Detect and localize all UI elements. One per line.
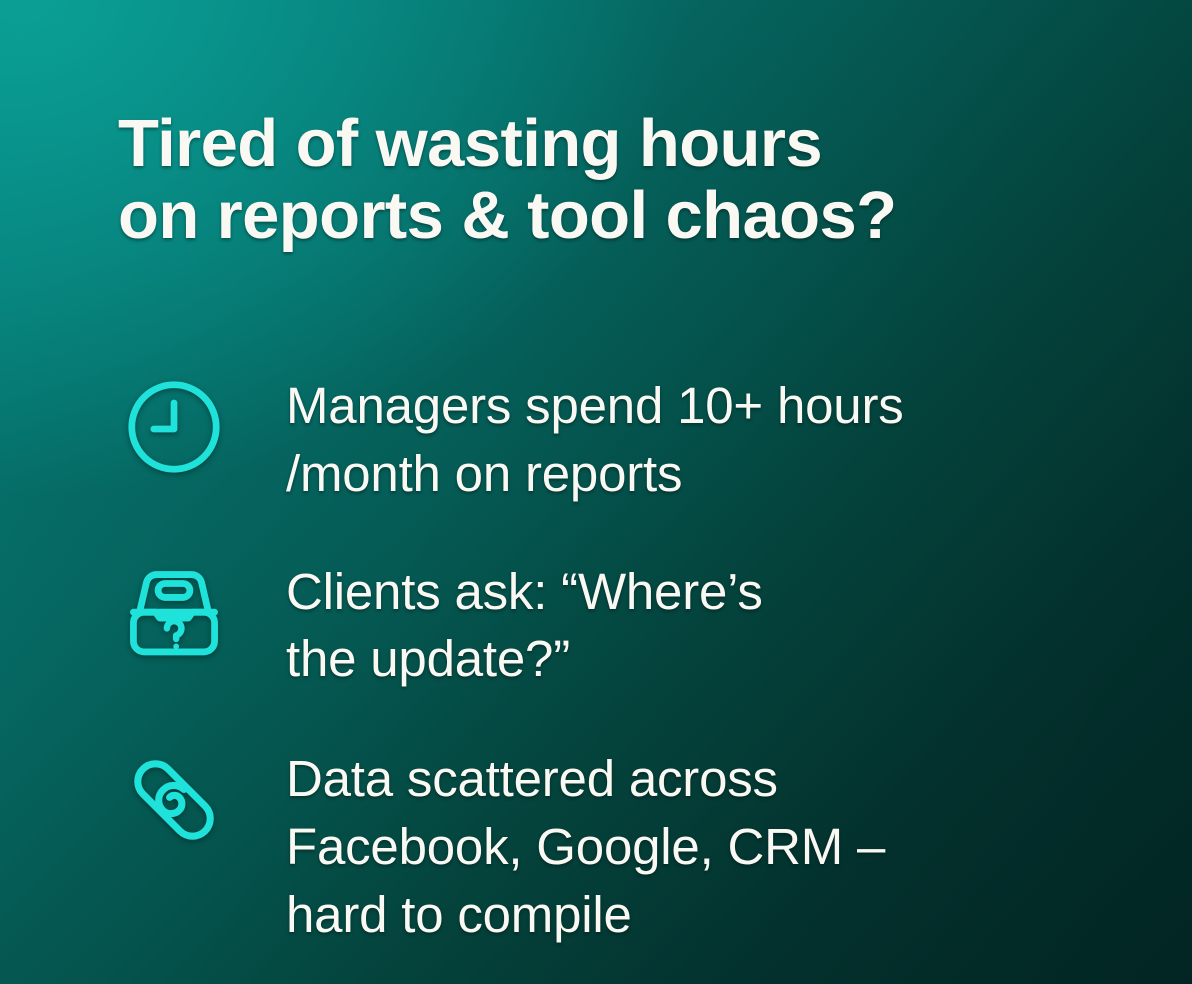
page-title-line-1: Tired of wasting hours — [118, 108, 1128, 180]
list-item: Managers spend 10+ hours /month on repor… — [118, 368, 1138, 508]
list-item-line-3: hard to compile — [286, 881, 1138, 949]
list-item-line-1: Data scattered across — [286, 745, 1138, 813]
list-item-line-2: the update?” — [286, 625, 1138, 693]
list-item-text: Clients ask: “Where’s the update?” — [286, 554, 1138, 694]
list-item-line-1: Clients ask: “Where’s — [286, 558, 1138, 626]
list-item: Clients ask: “Where’s the update?” — [118, 554, 1138, 694]
promo-card: Tired of wasting hours on reports & tool… — [0, 0, 1192, 984]
paperclip-link-icon — [118, 747, 230, 859]
list-item-text: Data scattered across Facebook, Google, … — [286, 741, 1138, 948]
list-item-line-1: Managers spend 10+ hours — [286, 372, 1138, 440]
page-title: Tired of wasting hours on reports & tool… — [118, 108, 1128, 253]
page-title-line-2: on reports & tool chaos? — [118, 180, 1128, 252]
list-item-text: Managers spend 10+ hours /month on repor… — [286, 368, 1138, 508]
list-item: Data scattered across Facebook, Google, … — [118, 741, 1138, 948]
inbox-question-icon — [118, 560, 230, 672]
list-item-line-2: /month on reports — [286, 440, 1138, 508]
pain-point-list: Managers spend 10+ hours /month on repor… — [118, 368, 1138, 949]
list-item-line-2: Facebook, Google, CRM – — [286, 813, 1138, 881]
clock-icon — [118, 374, 230, 486]
